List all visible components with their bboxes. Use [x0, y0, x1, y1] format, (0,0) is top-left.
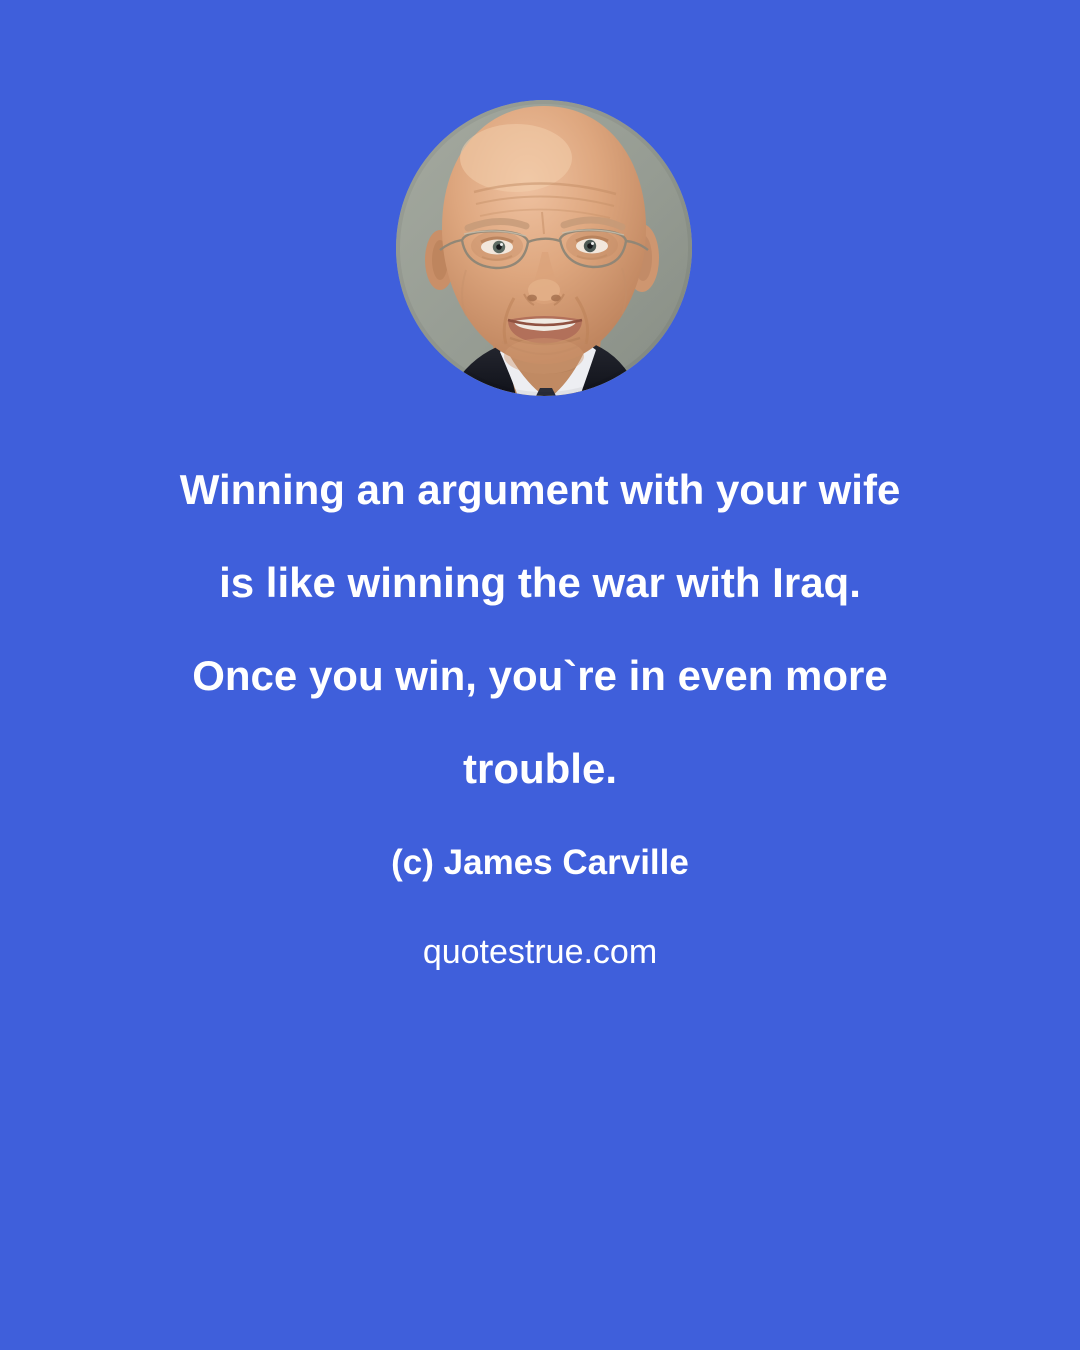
- portrait-image: [396, 100, 692, 396]
- source-website: quotestrue.com: [0, 929, 1080, 975]
- quote-line: is like winning the war with Iraq.: [0, 536, 1080, 629]
- quote-line: Winning an argument with your wife: [0, 443, 1080, 536]
- quote-line: Once you win, you`re in even more: [0, 629, 1080, 722]
- quote-text: Winning an argument with your wife is li…: [0, 443, 1080, 815]
- quote-attribution: (c) James Carville: [0, 840, 1080, 886]
- author-portrait-avatar: [396, 100, 692, 396]
- quote-line: trouble.: [0, 722, 1080, 815]
- quote-card: Winning an argument with your wife is li…: [0, 0, 1080, 1350]
